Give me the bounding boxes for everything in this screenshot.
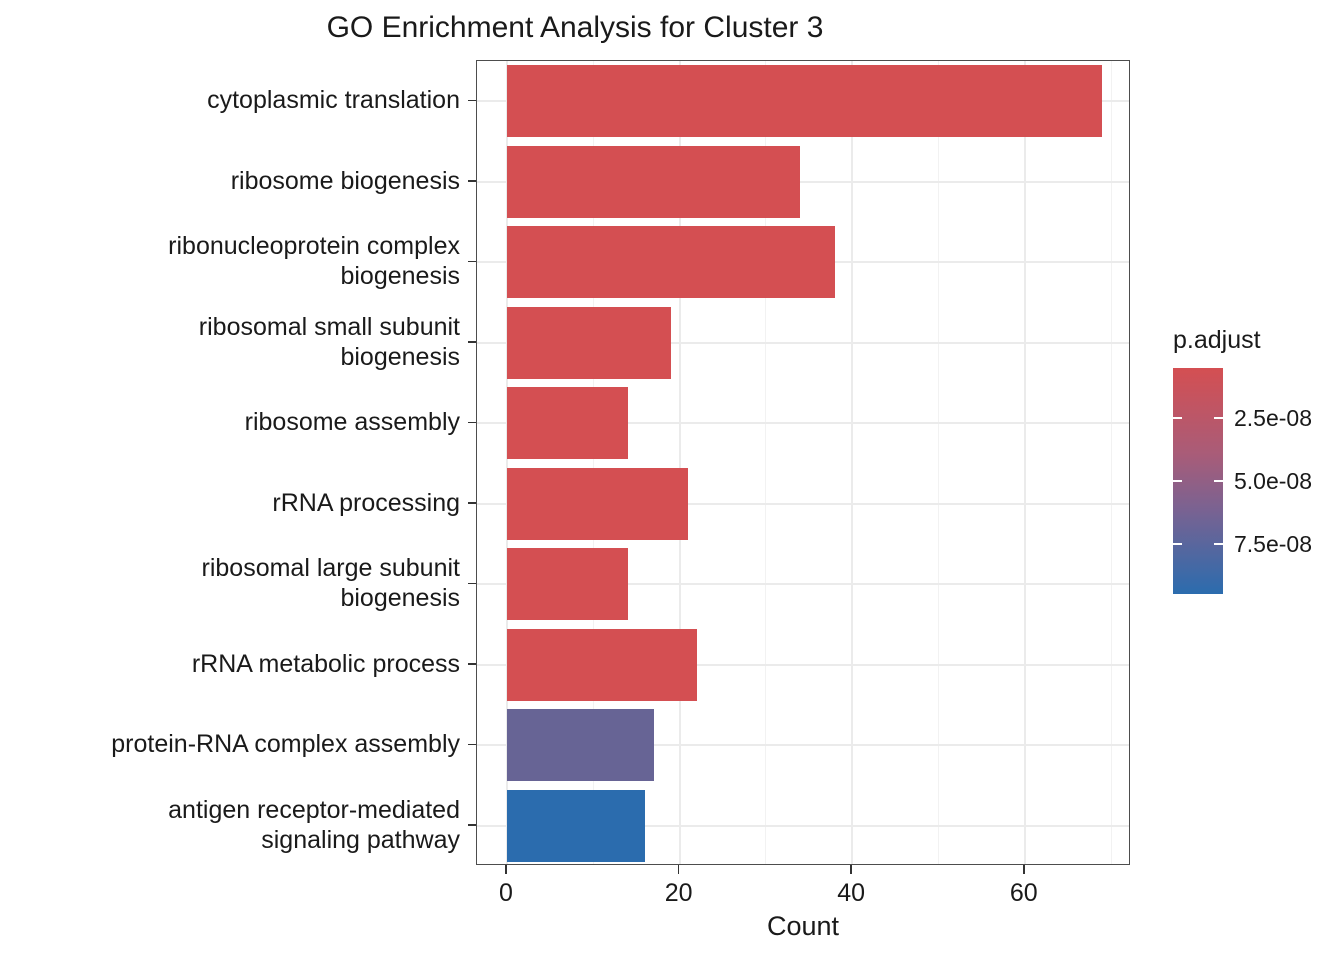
colorbar-tick bbox=[1214, 543, 1223, 545]
colorbar-tick-label: 7.5e-08 bbox=[1234, 531, 1312, 557]
y-axis-label: rRNA processing bbox=[20, 488, 460, 518]
y-axis-tick bbox=[468, 100, 476, 102]
colorbar-tick bbox=[1214, 417, 1223, 419]
colorbar-tick-label: 5.0e-08 bbox=[1234, 468, 1312, 494]
y-axis-label: ribonucleoprotein complexbiogenesis bbox=[20, 231, 460, 291]
x-axis-tick bbox=[1023, 865, 1025, 874]
y-axis-tick bbox=[468, 583, 476, 585]
plot-panel bbox=[476, 60, 1130, 865]
colorbar-tick bbox=[1173, 480, 1182, 482]
colorbar-tick bbox=[1173, 543, 1182, 545]
y-axis-label: protein-RNA complex assembly bbox=[20, 729, 460, 759]
colorbar-legend: p.adjust 2.5e-085.0e-087.5e-08 bbox=[1168, 325, 1344, 615]
y-axis-tick bbox=[468, 663, 476, 665]
x-axis-tick-label: 20 bbox=[639, 878, 719, 908]
x-axis-tick-label: 40 bbox=[811, 878, 891, 908]
bar bbox=[507, 709, 654, 781]
y-axis-tick bbox=[468, 422, 476, 424]
y-axis-tick bbox=[468, 744, 476, 746]
x-axis-tick bbox=[505, 865, 507, 874]
y-axis-label: cytoplasmic translation bbox=[20, 85, 460, 115]
bar bbox=[507, 146, 800, 218]
x-axis-tick-label: 0 bbox=[466, 878, 546, 908]
y-axis-tick bbox=[468, 824, 476, 826]
bar bbox=[507, 65, 1102, 137]
y-axis-label: ribosomal large subunitbiogenesis bbox=[20, 553, 460, 613]
bar bbox=[507, 226, 835, 298]
colorbar-tick bbox=[1214, 480, 1223, 482]
x-axis-tick-label: 60 bbox=[984, 878, 1064, 908]
y-axis-label: ribosome biogenesis bbox=[20, 166, 460, 196]
bar bbox=[507, 629, 697, 701]
colorbar-tick-label: 2.5e-08 bbox=[1234, 405, 1312, 431]
x-axis-tick bbox=[678, 865, 680, 874]
bar bbox=[507, 790, 645, 862]
bar bbox=[507, 387, 628, 459]
colorbar-tick bbox=[1173, 417, 1182, 419]
legend-title: p.adjust bbox=[1173, 325, 1261, 355]
y-axis-tick bbox=[468, 180, 476, 182]
y-axis-tick bbox=[468, 502, 476, 504]
y-axis-tick bbox=[468, 261, 476, 263]
y-axis-tick bbox=[468, 341, 476, 343]
y-axis-label: rRNA metabolic process bbox=[20, 649, 460, 679]
y-axis-label: ribosomal small subunitbiogenesis bbox=[20, 312, 460, 372]
chart-title: GO Enrichment Analysis for Cluster 3 bbox=[0, 10, 1150, 46]
x-axis-title: Count bbox=[476, 910, 1130, 942]
bar bbox=[507, 548, 628, 620]
y-axis-label: ribosome assembly bbox=[20, 407, 460, 437]
x-axis-tick bbox=[850, 865, 852, 874]
y-axis-label: antigen receptor-mediatedsignaling pathw… bbox=[20, 795, 460, 855]
bar bbox=[507, 307, 671, 379]
bar bbox=[507, 468, 688, 540]
go-enrichment-bar-chart: GO Enrichment Analysis for Cluster 3 Cou… bbox=[0, 0, 1344, 960]
